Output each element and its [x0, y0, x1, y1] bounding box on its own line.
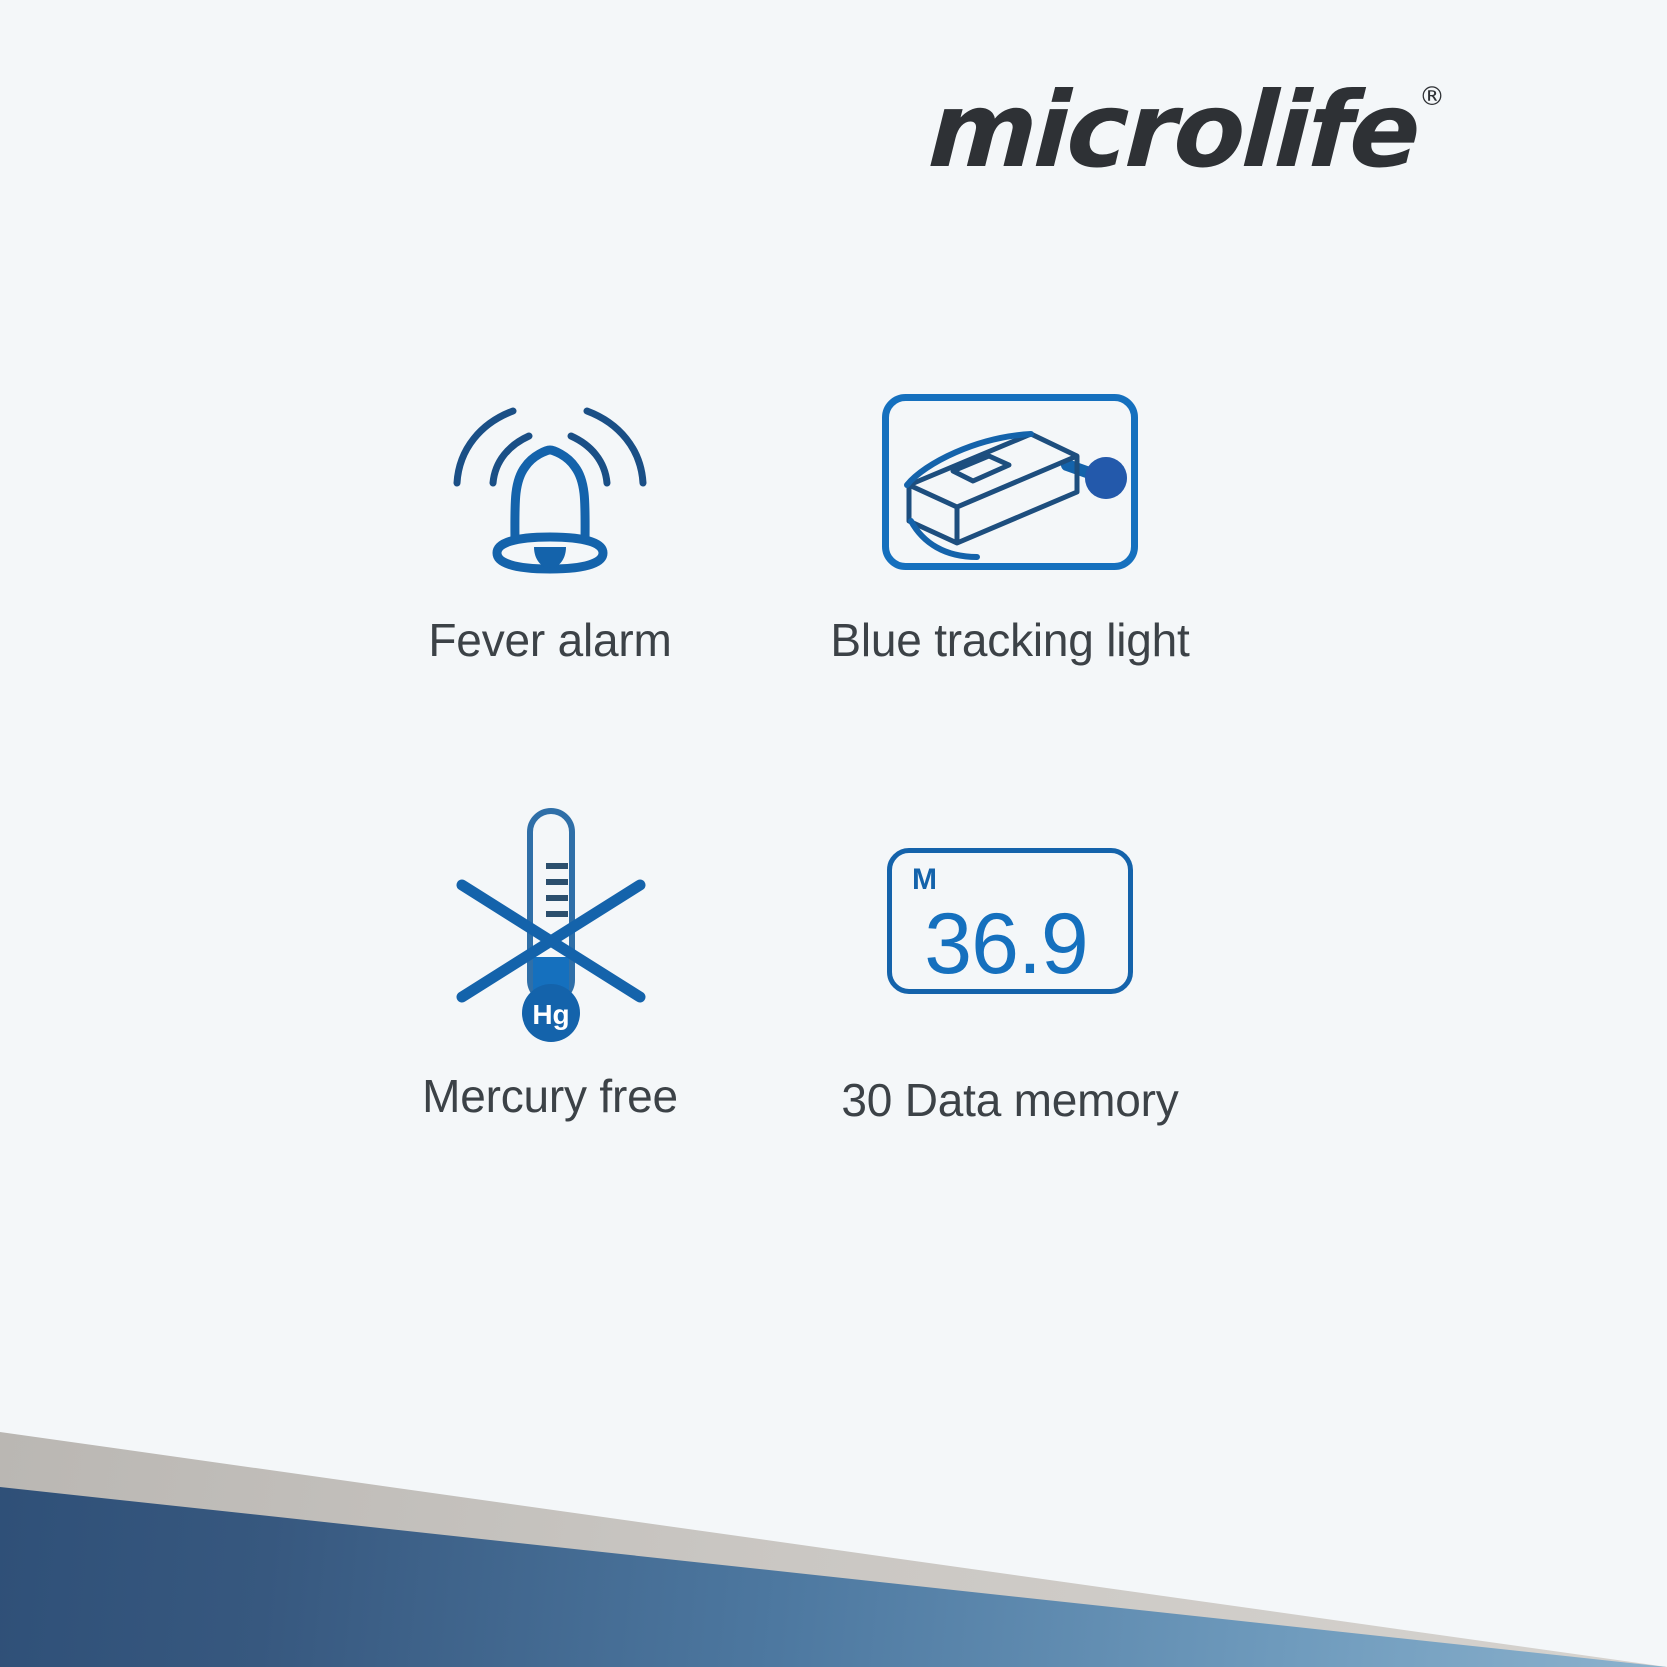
feature-item-data-memory: M 36.9 30 Data memory — [800, 796, 1220, 1128]
lcd-frame: M 36.9 — [887, 848, 1133, 994]
feature-item-blue-tracking-light: Blue tracking light — [800, 382, 1220, 668]
feature-label: Blue tracking light — [830, 612, 1189, 668]
brand-logo: microlife ® — [929, 78, 1445, 182]
memory-indicator-label: M — [912, 863, 937, 897]
feature-item-fever-alarm: Fever alarm — [340, 382, 760, 668]
crossed-out-mercury-thermometer-icon: Hg — [434, 796, 666, 1046]
feature-item-mercury-free: Hg Mercury free — [340, 796, 760, 1128]
lcd-display-icon: M 36.9 — [887, 796, 1133, 1046]
mercury-badge-label: Hg — [532, 999, 569, 1030]
brand-wordmark: microlife — [926, 78, 1420, 182]
feature-label: Fever alarm — [428, 612, 671, 668]
decorative-blue-band — [0, 1167, 1667, 1667]
product-feature-graphic: microlife ® — [0, 0, 1667, 1667]
temperature-reading: 36.9 — [892, 901, 1120, 987]
feature-grid: Fever alarm — [340, 382, 1280, 1128]
registered-trademark-icon: ® — [1419, 84, 1445, 110]
thermometer-beam-icon — [881, 382, 1139, 582]
feature-label: Mercury free — [422, 1068, 678, 1124]
feature-label: 30 Data memory — [841, 1072, 1178, 1128]
ringing-bell-icon — [435, 382, 665, 582]
